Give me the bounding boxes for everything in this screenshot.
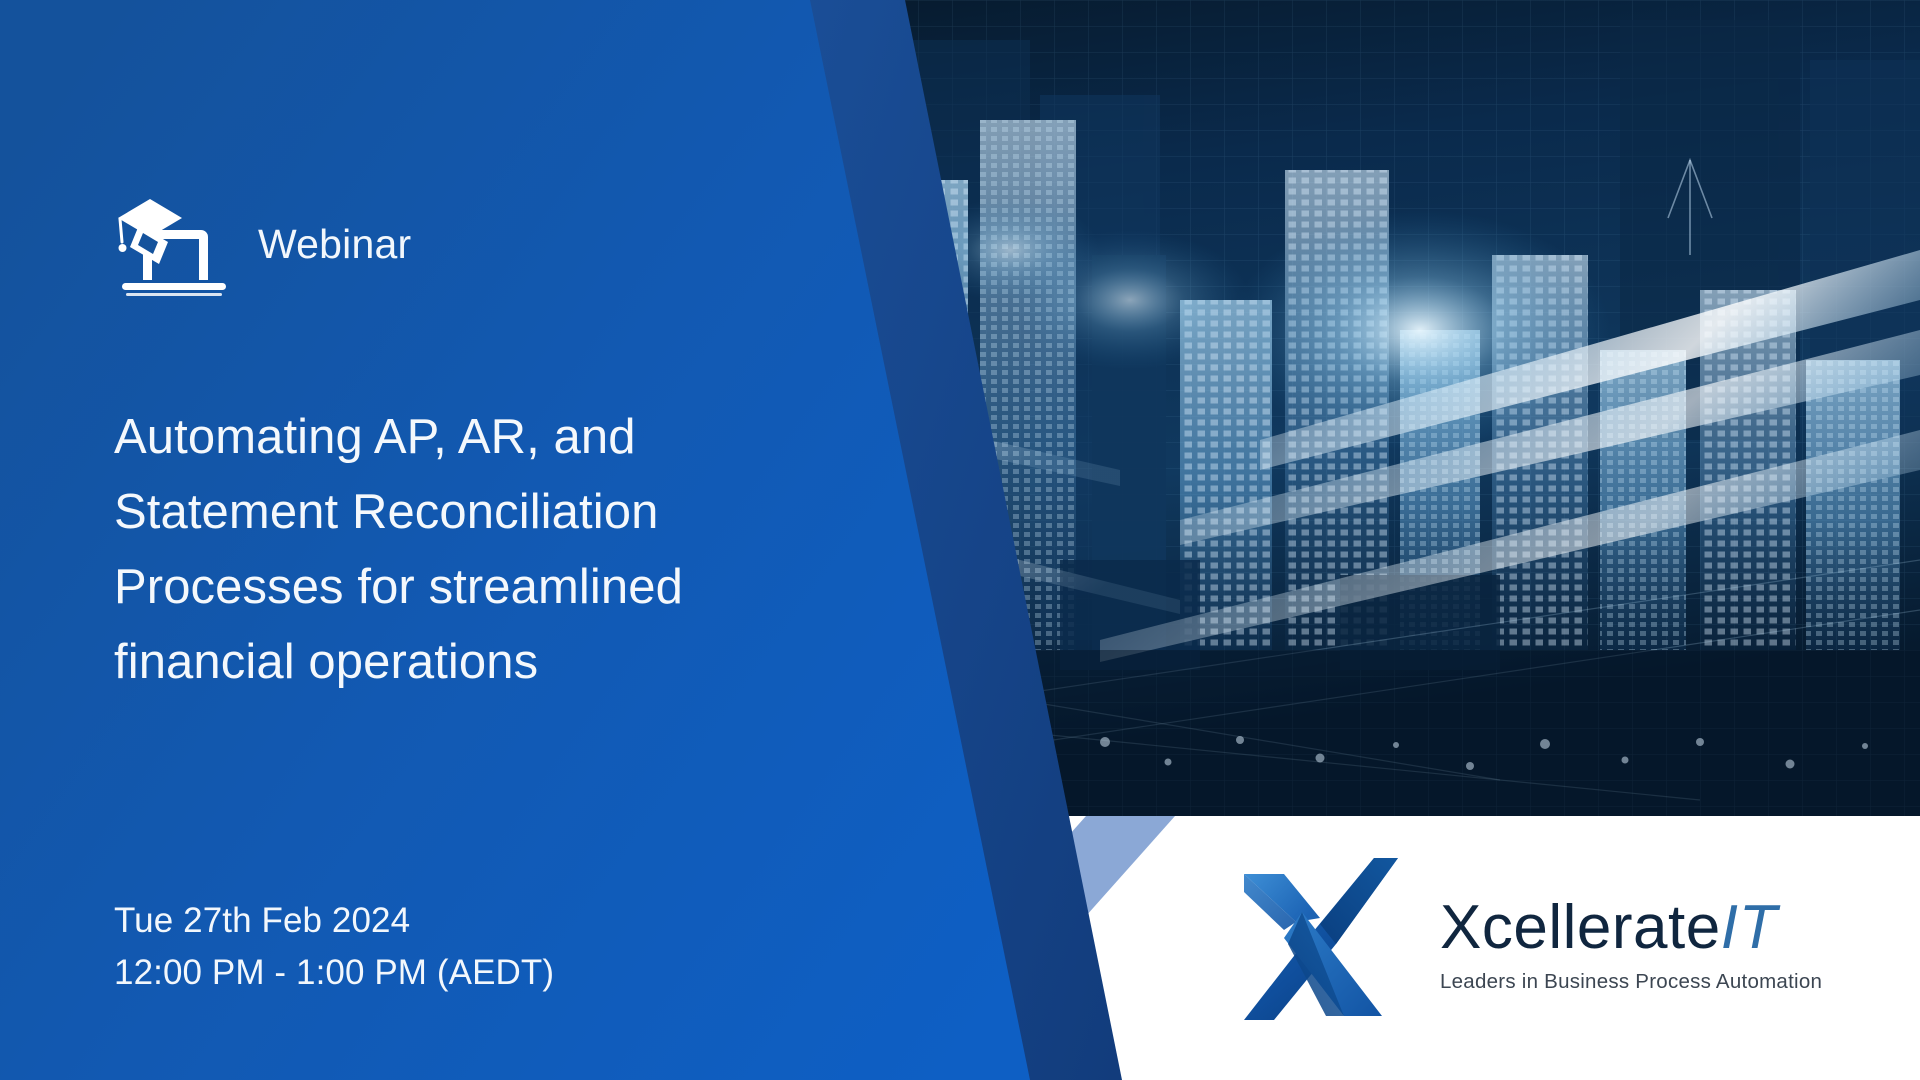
schedule-date: Tue 27th Feb 2024 — [114, 895, 554, 947]
logo-tagline: Leaders in Business Process Automation — [1440, 972, 1822, 993]
webinar-laptop-graduation-cap-icon — [112, 192, 236, 296]
brand-logo-lockup[interactable]: XcellerateIT Leaders in Business Process… — [1240, 852, 1822, 1024]
schedule-time: 12:00 PM - 1:00 PM (AEDT) — [114, 947, 554, 999]
xcellerate-x-mark-icon — [1240, 852, 1418, 1024]
logo-wordmark-accent: IT — [1721, 893, 1778, 962]
left-content-column: Webinar Automating AP, AR, and Statement… — [0, 0, 900, 1080]
logo-text-block: XcellerateIT Leaders in Business Process… — [1440, 883, 1822, 993]
webinar-promo-banner: Webinar Automating AP, AR, and Statement… — [0, 0, 1920, 1080]
schedule-block: Tue 27th Feb 2024 12:00 PM - 1:00 PM (AE… — [114, 895, 554, 999]
logo-wordmark-primary: Xcellerate — [1440, 893, 1721, 962]
logo-wordmark: XcellerateIT — [1440, 897, 1822, 959]
webinar-badge: Webinar — [112, 192, 411, 296]
webinar-badge-label: Webinar — [258, 224, 411, 265]
page-title: Automating AP, AR, and Statement Reconci… — [114, 400, 794, 700]
